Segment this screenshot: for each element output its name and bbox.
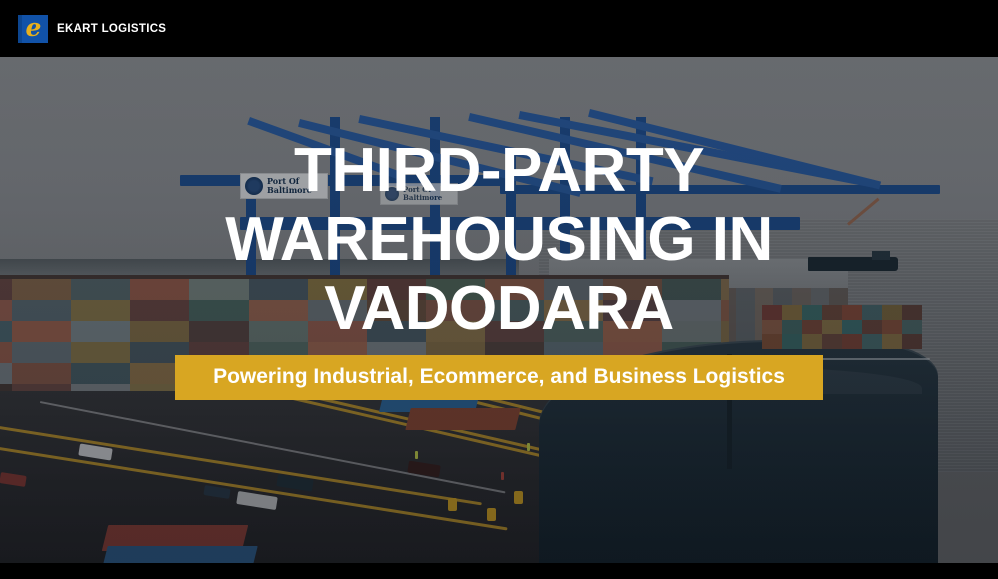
brand-logo-link[interactable]: e EKART LOGISTICS: [18, 15, 166, 43]
logo-glyph: e: [26, 15, 41, 40]
ekart-e-logo-icon: e: [18, 15, 48, 43]
hero-banner: Port Of Baltimore Port Of Baltimore: [0, 57, 998, 563]
brand-name: EKART LOGISTICS: [57, 23, 166, 35]
hero-copy: THIRD-PARTY WAREHOUSING IN VADODARA Powe…: [0, 57, 998, 563]
hero-subtitle-banner: Powering Industrial, Ecommerce, and Busi…: [175, 355, 823, 400]
site-header: e EKART LOGISTICS: [0, 0, 998, 57]
page-root: e EKART LOGISTICS: [0, 0, 998, 579]
page-title: THIRD-PARTY WAREHOUSING IN VADODARA: [139, 136, 859, 343]
site-footer-bar: [0, 563, 998, 579]
